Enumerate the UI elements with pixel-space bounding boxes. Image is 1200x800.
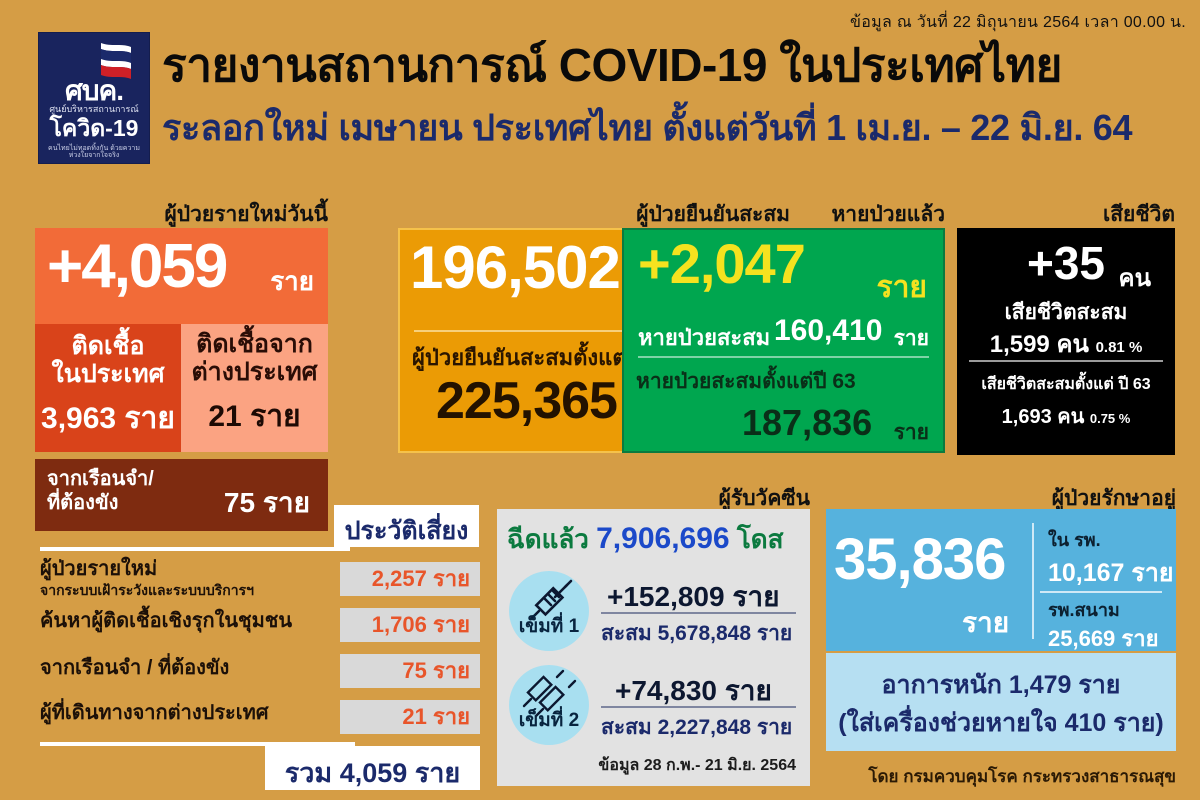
- admitted-value: 35,836: [834, 531, 1005, 589]
- imported-value: 21 ราย: [181, 393, 328, 440]
- deaths-since-label: เสียชีวิตสะสมตั้งแต่ ปี 63: [957, 372, 1175, 397]
- vaccine-total-number: 7,906,696: [596, 522, 729, 555]
- risk-history-total: รวม 4,059 ราย: [265, 746, 480, 790]
- prison-label: จากเรือนจำ/ ที่ต้องขัง: [47, 467, 154, 515]
- page-title: รายงานสถานการณ์ COVID-19 ในประเทศไทย: [162, 42, 1192, 88]
- deaths-divider: [969, 360, 1163, 362]
- ventilator-value: (ใส่เครื่องช่วยหายใจ 410 ราย): [826, 703, 1176, 743]
- vaccine-total-suffix: โดส: [737, 524, 784, 554]
- dose1-cumulative: สะสม 5,678,848 ราย: [601, 617, 792, 650]
- risk-row-2-label: จากเรือนจำ / ที่ต้องขัง: [40, 658, 340, 679]
- recovered-unit: ราย: [876, 264, 927, 311]
- risk-row-1-label: ค้นหาผู้ติดเชื้อเชิงรุกในชุมชน: [40, 611, 340, 632]
- deaths-cum-value: 1,599 คน: [990, 331, 1089, 358]
- recovered-cum-value: 160,410: [774, 314, 882, 348]
- card-domestic-cases: ติดเชื้อ ในประเทศ 3,963 ราย: [35, 324, 181, 452]
- recovered-divider: [638, 356, 929, 358]
- severe-value: อาการหนัก 1,479 ราย: [826, 665, 1176, 705]
- admitted-hospital-label: ใน รพ.: [1048, 525, 1101, 554]
- domestic-label-line1: ติดเชื้อ: [72, 332, 145, 360]
- deaths-since-row: 1,693 คน 0.75 %: [957, 400, 1175, 432]
- card-recovered: +2,047 ราย หายป่วยสะสม 160,410 ราย หายป่…: [622, 228, 945, 453]
- dose2-label: เข็มที่ 2: [509, 705, 589, 735]
- dose1-badge: เข็มที่ 1: [509, 571, 589, 651]
- logo-line-4: คนไทยไม่ทอดทิ้งกัน ด้วยความห่วงใยจากใจจร…: [39, 145, 149, 159]
- logo-line-2: ศูนย์บริหารสถานการณ์: [39, 105, 149, 114]
- vaccine-note: ข้อมูล 28 ก.พ.- 21 มิ.ย. 2564: [598, 753, 796, 778]
- card-prison-cases: จากเรือนจำ/ ที่ต้องขัง 75 ราย: [35, 459, 328, 531]
- imported-label-line2: ต่างประเทศ: [191, 358, 317, 386]
- footer-source: โดย กรมควบคุมโรค กระทรวงสาธารณสุข: [868, 763, 1176, 790]
- card-admitted: 35,836 ราย ใน รพ. 10,167 ราย รพ.สนาม 25,…: [826, 509, 1176, 651]
- prison-label-line1: จากเรือนจำ/: [47, 468, 154, 490]
- recovered-cum-label: หายป่วยสะสม: [638, 320, 770, 355]
- recovered-cum-unit: ราย: [894, 322, 929, 355]
- card-severe: อาการหนัก 1,479 ราย (ใส่เครื่องช่วยหายใจ…: [826, 653, 1176, 751]
- vaccine-total-prefix: ฉีดแล้ว: [507, 524, 589, 554]
- new-cases-value: +4,059: [47, 236, 226, 298]
- dose2-divider: [601, 706, 796, 708]
- infographic-root: ข้อมูล ณ วันที่ 22 มิถุนายน 2564 เวลา 00…: [0, 0, 1200, 800]
- cumulative-since-value: 225,365: [436, 375, 617, 427]
- logo-line-1: ศบค.: [39, 77, 149, 105]
- recovered-value: +2,047: [638, 236, 805, 292]
- cssa-logo: ศบค. ศูนย์บริหารสถานการณ์ โควิด-19 คนไทย…: [38, 32, 150, 164]
- risk-row-0-label-group: ผู้ป่วยรายใหม่ จากระบบเฝ้าระวังและระบบบร…: [40, 559, 340, 602]
- risk-history-top-rule: [40, 547, 350, 551]
- admitted-hospital-value: 10,167 ราย: [1048, 553, 1174, 593]
- logo-line-3: โควิด-19: [39, 117, 149, 140]
- risk-row-0-sublabel: จากระบบเฝ้าระวังและระบบบริการฯ: [40, 580, 340, 602]
- admitted-vertical-divider: [1032, 523, 1034, 639]
- card-vaccine: ฉีดแล้ว 7,906,696 โดส เข็มที่ 1 +152,809…: [497, 509, 810, 786]
- deaths-since-value: 1,693 คน: [1002, 406, 1085, 428]
- recovered-since-value: 187,836: [742, 402, 872, 444]
- domestic-value: 3,963 ราย: [35, 395, 181, 442]
- imported-label-line1: ติดเชื้อจาก: [196, 330, 313, 358]
- recovered-since-label: หายป่วยสะสมตั้งแต่ปี 63: [636, 365, 856, 398]
- card-imported-cases: ติดเชื้อจาก ต่างประเทศ 21 ราย: [181, 324, 328, 452]
- vaccine-total-row: ฉีดแล้ว 7,906,696 โดส: [507, 519, 784, 560]
- admitted-horizontal-divider: [1040, 591, 1162, 593]
- risk-history-tag: ประวัติเสี่ยง: [334, 505, 479, 547]
- page-subtitle: ระลอกใหม่ เมษายน ประเทศไทย ตั้งแต่วันที่…: [162, 110, 1192, 146]
- risk-history-total-label: รวม 4,059 ราย: [265, 751, 480, 794]
- risk-row-2-value: 75 ราย: [340, 654, 480, 688]
- deaths-cum-pct: 0.81 %: [1096, 339, 1143, 356]
- dose2-cumulative: สะสม 2,227,848 ราย: [601, 711, 792, 744]
- admitted-unit: ราย: [962, 601, 1009, 645]
- domestic-label-line2: ในประเทศ: [52, 360, 165, 388]
- recovered-since-unit: ราย: [894, 416, 929, 449]
- card-new-cases: +4,059 ราย: [35, 228, 328, 324]
- risk-row-3-value: 21 ราย: [340, 700, 480, 734]
- admitted-field-value: 25,669 ราย: [1048, 621, 1158, 656]
- imported-label: ติดเชื้อจาก ต่างประเทศ: [181, 330, 328, 386]
- caption-recovered: หายป่วยแล้ว: [622, 198, 945, 231]
- cumulative-value: 196,502: [410, 238, 620, 298]
- dose2-badge: เข็มที่ 2: [509, 665, 589, 745]
- card-deaths: +35 คน เสียชีวิตสะสม 1,599 คน 0.81 % เสี…: [957, 228, 1175, 455]
- caption-deaths: เสียชีวิต: [957, 198, 1175, 231]
- risk-history-tag-label: ประวัติเสี่ยง: [334, 511, 479, 551]
- admitted-field-label: รพ.สนาม: [1048, 595, 1120, 624]
- deaths-since-pct: 0.75 %: [1090, 411, 1130, 426]
- dose1-divider: [601, 612, 796, 614]
- prison-value: 75 ราย: [224, 481, 310, 525]
- domestic-label: ติดเชื้อ ในประเทศ: [35, 332, 181, 388]
- risk-row-1-value: 1,706 ราย: [340, 608, 480, 642]
- deaths-unit: คน: [1119, 258, 1151, 297]
- risk-row-0-label: ผู้ป่วยรายใหม่: [40, 559, 340, 580]
- risk-row-0-value: 2,257 ราย: [340, 562, 480, 596]
- data-timestamp: ข้อมูล ณ วันที่ 22 มิถุนายน 2564 เวลา 00…: [850, 10, 1186, 35]
- risk-row-1-label-group: ค้นหาผู้ติดเชื้อเชิงรุกในชุมชน: [40, 611, 340, 632]
- deaths-cum-row: 1,599 คน 0.81 %: [957, 324, 1175, 363]
- risk-row-3-label-group: ผู้ที่เดินทางจากต่างประเทศ: [40, 703, 340, 724]
- risk-row-3-label: ผู้ที่เดินทางจากต่างประเทศ: [40, 703, 340, 724]
- new-cases-unit: ราย: [270, 261, 314, 302]
- caption-new-cases: ผู้ป่วยรายใหม่วันนี้: [35, 198, 328, 231]
- dose1-label: เข็มที่ 1: [509, 611, 589, 641]
- prison-label-line2: ที่ต้องขัง: [47, 492, 118, 514]
- risk-row-2-label-group: จากเรือนจำ / ที่ต้องขัง: [40, 658, 340, 679]
